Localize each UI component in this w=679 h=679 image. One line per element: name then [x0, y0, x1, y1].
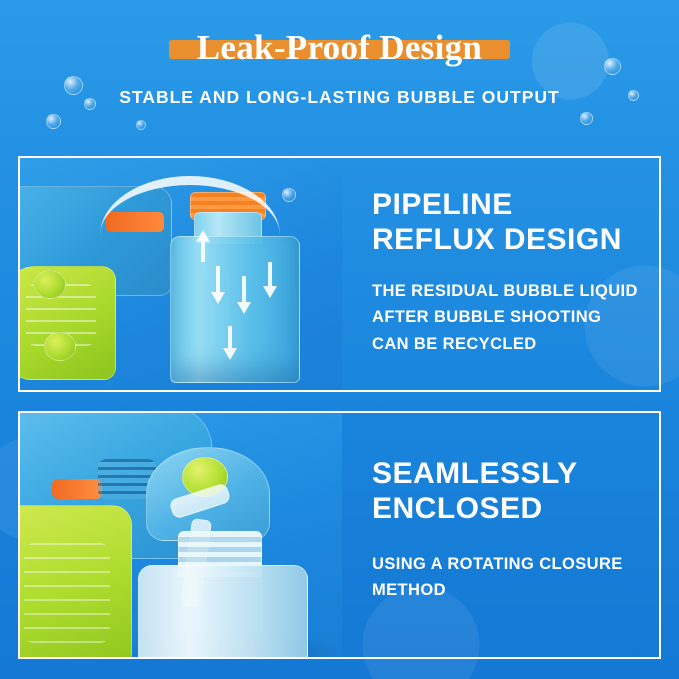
knob-green — [44, 332, 76, 361]
flow-arrow-down-icon — [237, 302, 251, 314]
flow-arrow-down-icon — [263, 286, 277, 298]
liquid-bottle — [170, 236, 300, 383]
feature-text-pipeline-reflux: PIPELINE REFLUX DESIGN THE RESIDUAL BUBB… — [342, 158, 659, 390]
product-photo-pipeline-reflux — [20, 158, 342, 390]
flow-arrow-tail — [268, 262, 272, 286]
trigger — [52, 479, 102, 499]
knob-green — [34, 270, 66, 299]
feature-description: USING A ROTATING CLOSURE METHOD — [372, 551, 643, 604]
bubble-icon — [580, 112, 593, 125]
feature-text-seamlessly-enclosed: SEAMLESSLY ENCLOSED USING A ROTATING CLO… — [342, 413, 659, 657]
bubble-icon — [136, 120, 146, 130]
product-photo-seamlessly-enclosed — [20, 413, 342, 657]
feature-panel-pipeline-reflux: PIPELINE REFLUX DESIGN THE RESIDUAL BUBB… — [18, 156, 661, 392]
flow-arrow-tail — [216, 266, 220, 292]
page-title: Leak-Proof Design — [191, 26, 488, 70]
liquid-bottle — [138, 565, 308, 657]
feature-description: THE RESIDUAL BUBBLE LIQUID AFTER BUBBLE … — [372, 278, 643, 358]
bubble-icon — [46, 114, 61, 129]
flow-arrow-tail — [228, 326, 232, 348]
header: Leak-Proof Design STABLE AND LONG-LASTIN… — [0, 0, 679, 108]
page-title-wrap: Leak-Proof Design — [191, 26, 488, 70]
grip-texture — [24, 543, 110, 643]
flow-arrow-tail — [242, 276, 246, 302]
flow-arrow-down-icon — [211, 292, 225, 304]
feature-title: SEAMLESSLY ENCLOSED — [372, 457, 643, 527]
page-subtitle: STABLE AND LONG-LASTING BUBBLE OUTPUT — [0, 87, 679, 108]
flow-arrow-down-icon — [223, 348, 237, 360]
feature-panel-seamlessly-enclosed: SEAMLESSLY ENCLOSED USING A ROTATING CLO… — [18, 411, 661, 659]
feature-title: PIPELINE REFLUX DESIGN — [372, 188, 643, 258]
flow-arrow-up-icon — [196, 230, 210, 242]
product-infographic: Leak-Proof Design STABLE AND LONG-LASTIN… — [0, 0, 679, 679]
flow-arrow-tail — [201, 242, 205, 262]
